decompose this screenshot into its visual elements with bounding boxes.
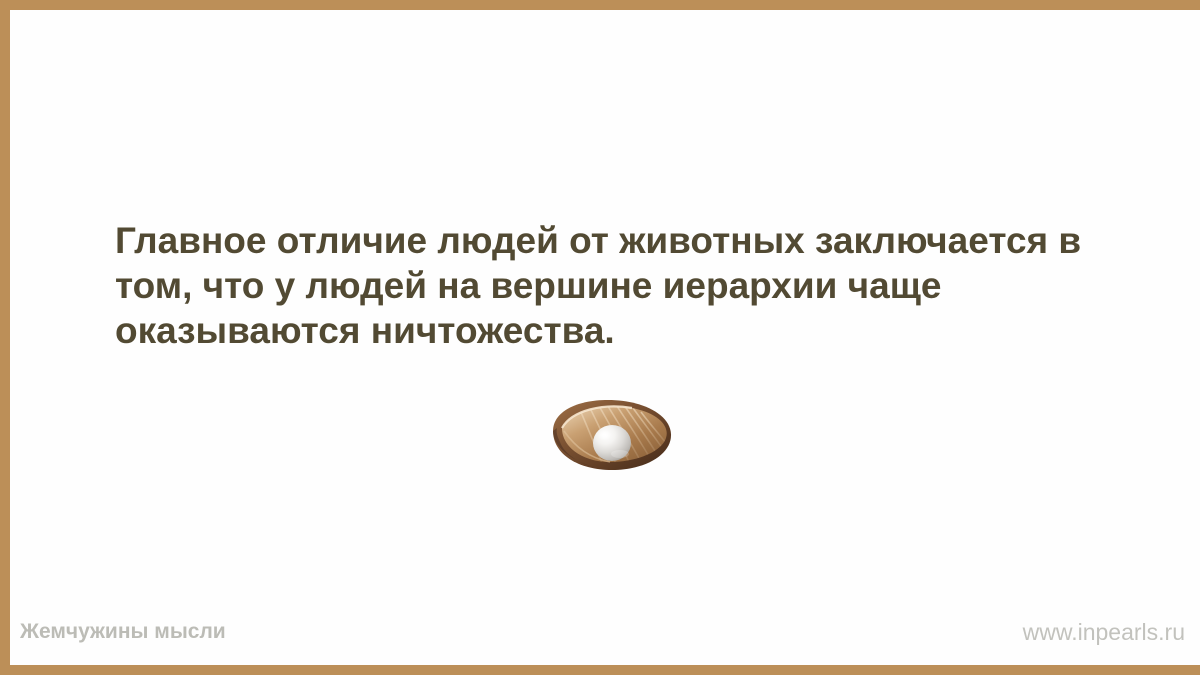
footer: Жемчужины мысли www.inpearls.ru [10, 617, 1200, 647]
quote-card: Главное отличие людей от животных заключ… [0, 0, 1200, 675]
oyster-shell-with-pearl-icon [546, 398, 676, 472]
top-border-rule [0, 0, 1200, 10]
brand-label: Жемчужины мысли [20, 617, 226, 647]
quote-text: Главное отличие людей от животных заключ… [115, 218, 1095, 353]
site-url[interactable]: www.inpearls.ru [1023, 617, 1185, 647]
